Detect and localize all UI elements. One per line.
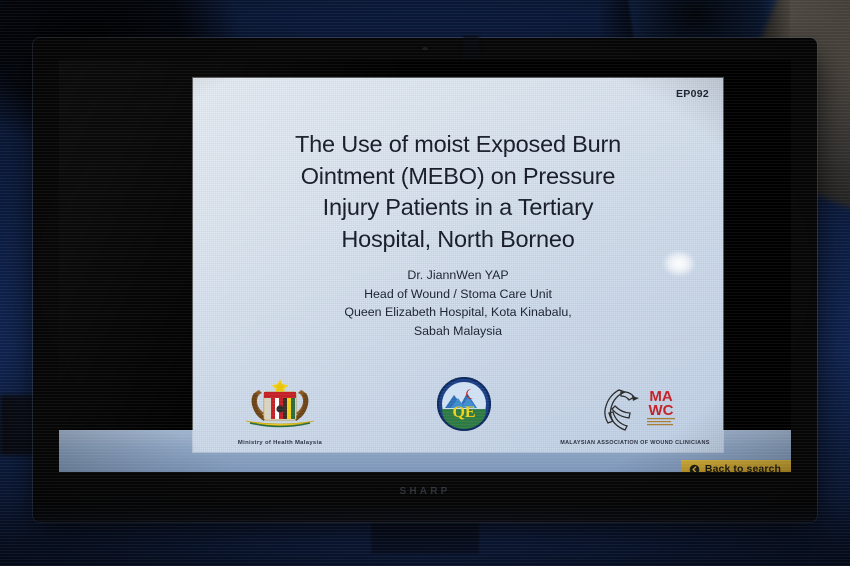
back-to-search-label: Back to search [705,463,781,472]
back-to-search-button[interactable]: Back to search [681,460,791,472]
poster-title-line-1: The Use of moist Exposed Burn [219,129,697,161]
mawc-dove-icon: MA WC [575,382,695,432]
poster-author-name: Dr. JiannWen YAP [219,266,697,285]
logo-queen-elizabeth-hospital: QE [412,375,516,438]
svg-text:WC: WC [649,402,674,419]
webcam-icon [422,47,428,50]
poster-author-role: Head of Wound / Stoma Care Unit [219,285,697,304]
svg-text:QE: QE [452,404,475,421]
logo-caption-mawc: MALAYSIAN ASSOCIATION OF WOUND CLINICIAN… [542,439,729,445]
malaysia-coat-of-arms-icon [224,376,336,432]
logo-mawc: MA WC MALAYSIAN ASSOCIATION OF WOUND CLI… [562,382,708,444]
poster-slide[interactable]: EP092 The Use of moist Exposed Burn Oint… [193,78,723,452]
logo-caption-moh: Ministry of Health Malaysia [197,439,363,445]
back-arrow-circle-icon [689,464,700,473]
screen: EP092 The Use of moist Exposed Burn Oint… [59,60,791,472]
poster-code-label: EP092 [676,88,709,100]
queen-elizabeth-hospital-emblem-icon: QE [435,375,493,433]
poster-logo-row: Ministry of Health Malaysia QE [207,366,709,444]
poster-title-line-3: Injury Patients in a Tertiary [219,192,697,224]
logo-ministry-of-health: Ministry of Health Malaysia [215,376,345,444]
monitor: EP092 The Use of moist Exposed Burn Oint… [33,38,817,522]
poster-title: The Use of moist Exposed Burn Ointment (… [219,129,697,255]
poster-author-region: Sabah Malaysia [219,322,697,341]
foreground-shadow [0,496,850,566]
poster-title-line-4: Hospital, North Borneo [219,224,697,256]
poster-author-institution: Queen Elizabeth Hospital, Kota Kinabalu, [219,303,697,322]
poster-title-line-2: Ointment (MEBO) on Pressure [219,161,697,193]
poster-author-block: Dr. JiannWen YAP Head of Wound / Stoma C… [219,266,697,340]
photo-scene: EP092 The Use of moist Exposed Burn Oint… [0,0,850,566]
